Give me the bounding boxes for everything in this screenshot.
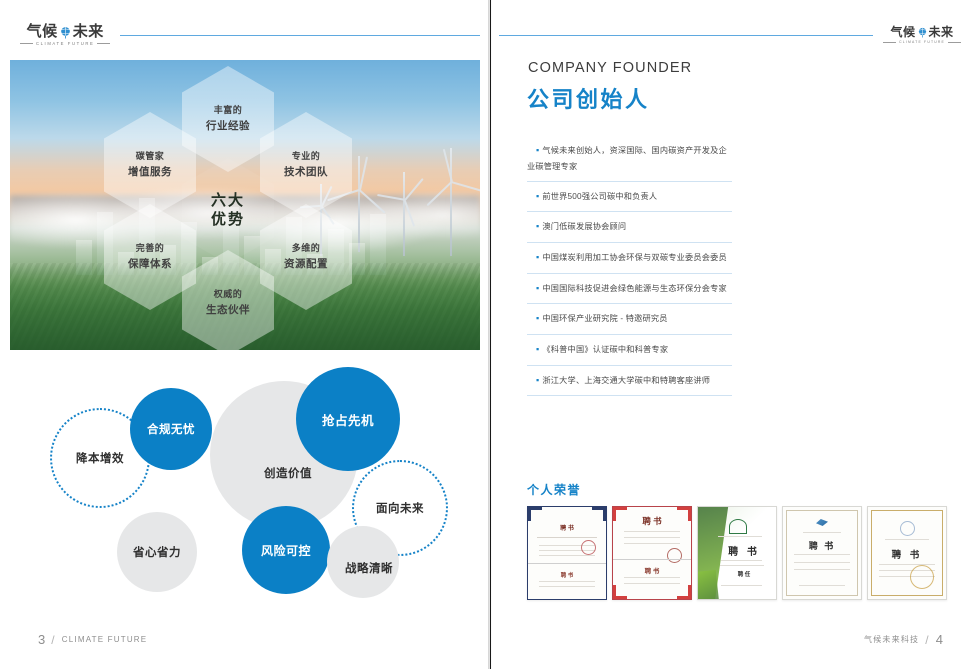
bubble-label: 面向未来 — [376, 500, 424, 516]
bio-item: ▪中国煤炭利用加工协会环保与双碳专业委员会委员 — [527, 243, 732, 274]
hexagon-cluster: 丰富的 行业经验 专业的 技术团队 碳管家 增值服务 六大 优势 多维的 资 — [10, 60, 480, 350]
leaf-globe-icon — [59, 26, 72, 39]
left-page-footer: 3 / CLIMATE FUTURE — [38, 632, 147, 647]
bio-item-text: 中国煤炭利用加工协会环保与双碳专业委员会委员 — [542, 253, 727, 262]
bullet-icon: ▪ — [536, 145, 539, 155]
footer-slash: / — [925, 633, 930, 647]
right-page-header: 气候 未来 CLIMATE FUTURE — [499, 18, 971, 52]
bio-item: ▪气候未来创始人，资深国际、国内碳资产开发及企业碳管理专家 — [527, 140, 732, 182]
certificate-caption-secondary: 聘 书 — [613, 565, 691, 575]
bubble-item-6: 风险可控 — [242, 506, 330, 594]
bio-item: ▪《科普中国》认证碳中和科普专家 — [527, 335, 732, 366]
brand-logo-wordmark: 气候 未来 — [27, 24, 104, 39]
hexagon-line1: 碳管家 — [136, 150, 165, 163]
brand-logo-tagline: CLIMATE FUTURE — [883, 40, 961, 44]
bubble-label: 创造价值 — [264, 465, 312, 481]
right-page: 气候 未来 CLIMATE FUTURE COMPANY FOUN — [491, 0, 979, 669]
value-bubble-diagram: 创造价值 降本增效 合规无忧 抢占先机 面向未来 省心省力 风险可控 战略清晰 — [10, 360, 480, 615]
certificate-gallery: 聘 书 聘 书 聘 书 聘 书 — [527, 506, 935, 598]
bubble-item-2: 合规无忧 — [130, 388, 212, 470]
spread-gutter-shadow — [488, 0, 492, 669]
bullet-icon: ▪ — [536, 191, 539, 201]
bullet-icon: ▪ — [536, 252, 539, 262]
round-seal-icon — [900, 521, 915, 536]
certificate-thumbnail: 聘 书 聘 书 — [527, 506, 607, 600]
brand-logo-cn-first: 气候 — [891, 26, 916, 38]
hexagon-line2: 生态伙伴 — [206, 303, 250, 318]
certificate-thumbnail: 聘 书 — [867, 506, 947, 600]
hexagon-line1: 丰富的 — [214, 104, 243, 117]
certificate-thumbnail: 聘 书 聘 任 — [697, 506, 777, 600]
right-page-footer: 气候未来科技 / 4 — [864, 632, 943, 647]
bio-item: ▪中国环保产业研究院 - 特邀研究员 — [527, 304, 732, 335]
brochure-spread: 气候 未来 CLIMATE FUTURE — [0, 0, 979, 669]
bubble-label: 抢占先机 — [322, 410, 374, 429]
hero-image: 丰富的 行业经验 专业的 技术团队 碳管家 增值服务 六大 优势 多维的 资 — [10, 60, 480, 350]
bio-item-text: 中国环保产业研究院 - 特邀研究员 — [542, 314, 667, 323]
bubble-item-3: 抢占先机 — [296, 367, 400, 471]
hexagon-line1: 权威的 — [214, 288, 243, 301]
bubble-label: 合规无忧 — [147, 421, 195, 437]
bullet-icon: ▪ — [536, 344, 539, 354]
brand-logo-cn-second: 未来 — [929, 26, 954, 38]
header-rule — [120, 35, 480, 36]
bio-item: ▪澳门低碳发展协会顾问 — [527, 212, 732, 243]
leaf-globe-icon — [917, 27, 928, 38]
bio-item-text: 中国国际科技促进会绿色能源与生态环保分会专家 — [542, 284, 727, 293]
bio-item-text: 气候未来创始人，资深国际、国内碳资产开发及企业碳管理专家 — [527, 146, 727, 171]
footer-label: CLIMATE FUTURE — [62, 635, 148, 644]
bubble-label: 风险可控 — [261, 542, 311, 559]
footer-label: 气候未来科技 — [864, 634, 919, 645]
bullet-icon: ▪ — [536, 313, 539, 323]
brand-logo: 气候 未来 CLIMATE FUTURE — [10, 24, 120, 47]
bullet-icon: ▪ — [536, 375, 539, 385]
footer-slash: / — [51, 633, 56, 647]
hexagon-line1: 完善的 — [136, 242, 165, 255]
header-rule — [499, 35, 873, 36]
hexagon-line1: 专业的 — [292, 150, 321, 163]
page-title-en: COMPANY FOUNDER — [528, 60, 692, 76]
page-number: 3 — [38, 632, 45, 647]
left-page: 气候 未来 CLIMATE FUTURE — [0, 0, 491, 669]
bullet-icon: ▪ — [536, 221, 539, 231]
hexagon-center-line1: 六大 — [211, 192, 245, 211]
certificate-caption: 聘 书 — [528, 523, 606, 532]
founder-bio-list: ▪气候未来创始人，资深国际、国内碳资产开发及企业碳管理专家 ▪前世界500强公司… — [527, 140, 732, 396]
bio-item: ▪浙江大学、上海交通大学碳中和特聘客座讲师 — [527, 366, 732, 397]
brand-logo: 气候 未来 CLIMATE FUTURE — [873, 26, 971, 45]
hexagon-line2: 资源配置 — [284, 257, 328, 272]
brand-logo-cn-second: 未来 — [73, 24, 104, 39]
hexagon-line2: 行业经验 — [206, 119, 250, 134]
certificate-caption: 聘 书 — [783, 539, 861, 552]
bio-item: ▪前世界500强公司碳中和负责人 — [527, 182, 732, 213]
left-page-header: 气候 未来 CLIMATE FUTURE — [10, 18, 480, 52]
hexagon-line1: 多维的 — [292, 242, 321, 255]
certificate-caption: 聘 书 — [868, 547, 946, 561]
bubble-item-5: 省心省力 — [117, 512, 197, 592]
bubble-label: 战略清晰 — [345, 560, 393, 576]
bubble-label: 省心省力 — [133, 544, 181, 560]
certificate-thumbnail: 聘 书 聘 书 — [612, 506, 692, 600]
bio-item-text: 浙江大学、上海交通大学碳中和特聘客座讲师 — [542, 376, 710, 385]
bullet-icon: ▪ — [536, 283, 539, 293]
hexagon-line2: 保障体系 — [128, 257, 172, 272]
bio-item-text: 《科普中国》认证碳中和科普专家 — [542, 345, 668, 354]
bubble-label: 降本增效 — [76, 450, 124, 466]
hexagon-line2: 技术团队 — [284, 165, 328, 180]
bio-item-text: 前世界500强公司碳中和负责人 — [542, 192, 657, 201]
bio-item: ▪中国国际科技促进会绿色能源与生态环保分会专家 — [527, 274, 732, 305]
brand-logo-cn-first: 气候 — [27, 24, 58, 39]
brand-logo-wordmark: 气候 未来 — [891, 26, 954, 38]
brand-logo-tagline: CLIMATE FUTURE — [20, 41, 110, 46]
certificate-caption-secondary: 聘 书 — [528, 571, 606, 579]
hexagon-line2: 增值服务 — [128, 165, 172, 180]
certificate-caption: 聘 书 — [712, 543, 776, 558]
hexagon-center-line2: 优势 — [211, 211, 245, 230]
certificate-thumbnail: 聘 书 — [782, 506, 862, 600]
honors-section-title: 个人荣誉 — [527, 481, 581, 498]
page-title-cn: 公司创始人 — [527, 82, 650, 114]
page-number: 4 — [936, 632, 943, 647]
bio-item-text: 澳门低碳发展协会顾问 — [542, 222, 626, 231]
certificate-subtitle: 聘 任 — [712, 570, 776, 578]
bubble-item-7: 战略清晰 — [327, 526, 399, 598]
organization-emblem-icon — [729, 519, 747, 534]
